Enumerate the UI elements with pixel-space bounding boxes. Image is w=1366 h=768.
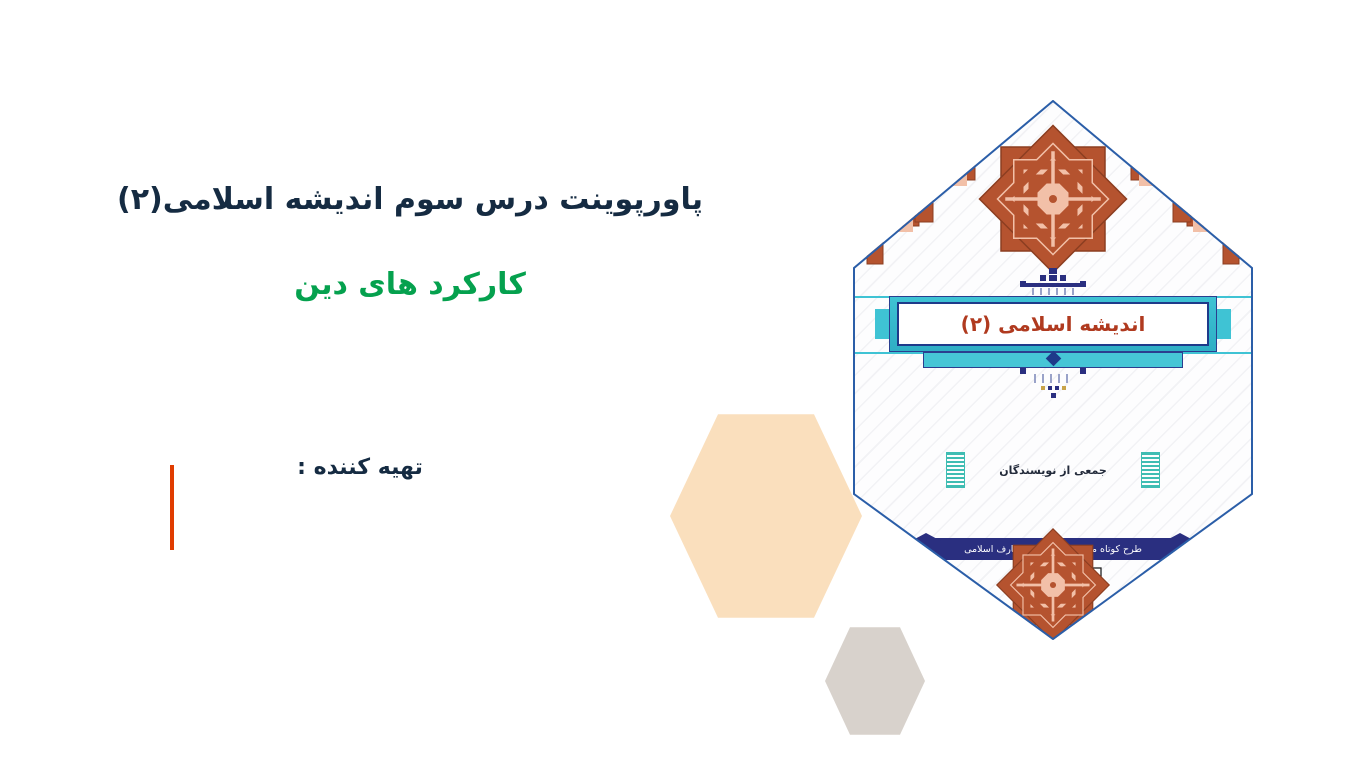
gray-hexagon-decoration bbox=[825, 625, 925, 737]
text-caret-bar bbox=[170, 465, 174, 550]
slide-subtitle: کارکرد های دین bbox=[60, 265, 760, 306]
islamic-star-medallion-icon bbox=[968, 114, 1138, 284]
corner-ornament-upper-right-icon bbox=[1119, 162, 1197, 228]
crown-ornament-icon bbox=[1018, 268, 1088, 296]
lower-pixel-ornament-icon bbox=[1018, 368, 1088, 402]
slide-title: پاورپوینت درس سوم اندیشه اسلامی(۲) bbox=[60, 180, 760, 221]
author-ornament-right-icon bbox=[1141, 452, 1160, 488]
book-author-row: جمعی از نویسندگان bbox=[853, 452, 1253, 488]
plaque-tab-right bbox=[1215, 309, 1231, 339]
author-label: تهیه کننده : bbox=[60, 455, 660, 480]
book-title-text: اندیشه اسلامی (۲) bbox=[961, 312, 1146, 336]
peach-hexagon-decoration bbox=[670, 410, 862, 622]
book-title-plaque: اندیشه اسلامی (۲) bbox=[889, 296, 1217, 352]
plaque-inner-panel: اندیشه اسلامی (۲) bbox=[897, 302, 1209, 346]
book-author-text: جمعی از نویسندگان bbox=[999, 464, 1107, 477]
slide-text-block: پاورپوینت درس سوم اندیشه اسلامی(۲) کارکر… bbox=[60, 180, 760, 305]
author-ornament-left-icon bbox=[946, 452, 965, 488]
bottom-star-medallion-icon bbox=[988, 520, 1118, 640]
book-cover-image: اندیشه اسلامی (۲) جمعی از نویسندگ bbox=[853, 100, 1253, 640]
corner-ornament-upper-left-icon bbox=[909, 162, 987, 228]
presentation-slide: پاورپوینت درس سوم اندیشه اسلامی(۲) کارکر… bbox=[0, 0, 1366, 768]
